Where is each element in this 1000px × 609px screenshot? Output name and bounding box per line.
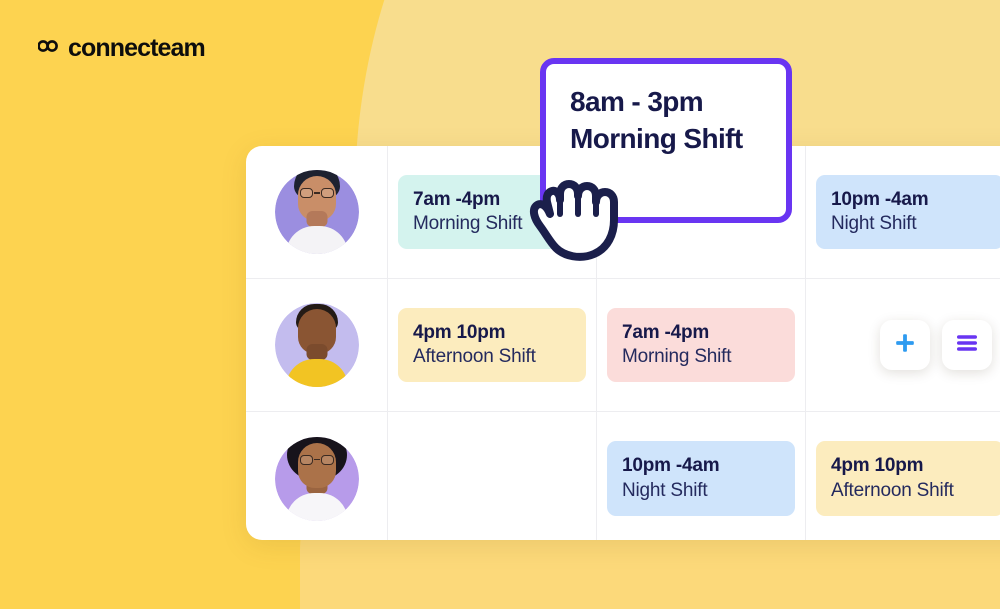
- brand-name: connecteam: [68, 36, 205, 61]
- shift-tooltip[interactable]: 8am - 3pm Morning Shift: [540, 58, 792, 223]
- shift-cell[interactable]: 7am -4pm Morning Shift: [597, 279, 806, 411]
- shift-name: Night Shift: [831, 212, 989, 236]
- shift-name: Night Shift: [622, 479, 780, 503]
- tooltip-shift-name: Morning Shift: [570, 121, 766, 158]
- shift-card[interactable]: 7am -4pm Morning Shift: [607, 308, 795, 383]
- employee-avatar-cell[interactable]: [246, 146, 388, 278]
- shift-cell[interactable]: 4pm 10pm Afternoon Shift: [388, 279, 597, 411]
- tooltip-time: 8am - 3pm: [570, 84, 766, 121]
- shift-card[interactable]: 10pm -4am Night Shift: [607, 441, 795, 516]
- avatar: [275, 437, 359, 521]
- avatar: [275, 170, 359, 254]
- shift-time: 4pm 10pm: [831, 454, 989, 478]
- shift-card[interactable]: 4pm 10pm Afternoon Shift: [816, 441, 1000, 516]
- brand-logo: connecteam: [38, 36, 205, 61]
- shift-cell[interactable]: 10pm -4am Night Shift: [597, 412, 806, 540]
- hamburger-menu-icon: [955, 333, 979, 358]
- row-menu-button[interactable]: [942, 320, 992, 370]
- shift-card[interactable]: 4pm 10pm Afternoon Shift: [398, 308, 586, 383]
- row-action-buttons: [880, 320, 992, 370]
- shift-cell[interactable]: 4pm 10pm Afternoon Shift: [806, 412, 1000, 540]
- add-shift-button[interactable]: [880, 320, 930, 370]
- shift-time: 7am -4pm: [622, 321, 780, 345]
- plus-icon: [894, 332, 916, 359]
- shift-name: Afternoon Shift: [413, 345, 571, 369]
- shift-cell-empty[interactable]: [806, 279, 1000, 411]
- shift-time: 10pm -4am: [831, 188, 989, 212]
- employee-avatar-cell[interactable]: [246, 412, 388, 540]
- shift-card-empty[interactable]: [398, 466, 586, 492]
- table-row: 10pm -4am Night Shift 4pm 10pm Afternoon…: [246, 412, 1000, 540]
- shift-name: Afternoon Shift: [831, 479, 989, 503]
- shift-name: Morning Shift: [622, 345, 780, 369]
- shift-time: 10pm -4am: [622, 454, 780, 478]
- infinity-mark-icon: [38, 36, 65, 61]
- shift-cell-empty[interactable]: [388, 412, 597, 540]
- table-row: 4pm 10pm Afternoon Shift 7am -4pm Mornin…: [246, 279, 1000, 412]
- shift-cell[interactable]: 10pm -4am Night Shift: [806, 146, 1000, 278]
- avatar: [275, 303, 359, 387]
- shift-time: 4pm 10pm: [413, 321, 571, 345]
- shift-card[interactable]: 10pm -4am Night Shift: [816, 175, 1000, 250]
- employee-avatar-cell[interactable]: [246, 279, 388, 411]
